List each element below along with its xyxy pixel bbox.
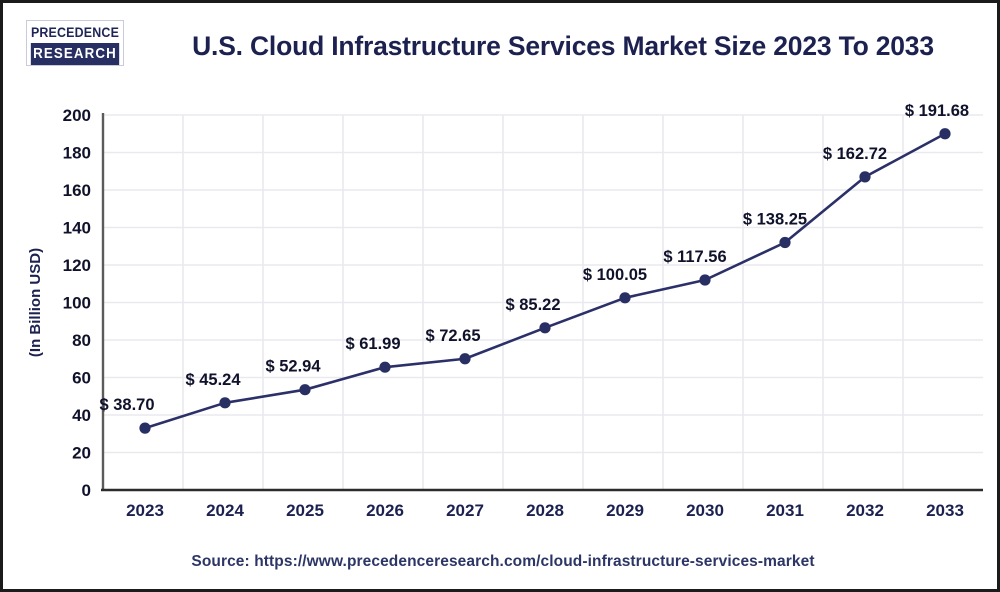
y-tick-label: 120 (63, 256, 91, 275)
data-point-label: $ 117.56 (663, 248, 726, 266)
data-point-label: $ 72.65 (425, 327, 480, 345)
y-axis-tick-labels: 020406080100120140160180200 (63, 106, 91, 500)
data-point-marker (699, 274, 710, 285)
x-tick-label: 2032 (846, 501, 884, 520)
data-point-label: $ 100.05 (583, 266, 647, 284)
data-point-marker (379, 362, 390, 373)
plot-area: 020406080100120140160180200 202320242025… (3, 3, 1000, 592)
series-path (145, 134, 945, 428)
y-tick-label: 20 (72, 444, 91, 463)
data-point-label: $ 162.72 (823, 145, 887, 163)
chart-frame: PRECEDENCE RESEARCH U.S. Cloud Infrastru… (0, 0, 1000, 592)
data-point-label: $ 191.68 (905, 102, 969, 120)
x-tick-label: 2023 (126, 501, 164, 520)
data-point-marker (139, 423, 150, 434)
data-point-label: $ 61.99 (345, 335, 400, 353)
data-series-points (139, 128, 950, 434)
x-tick-label: 2030 (686, 501, 724, 520)
data-point-labels: $ 38.70$ 45.24$ 52.94$ 61.99$ 72.65$ 85.… (99, 102, 969, 414)
data-point-label: $ 52.94 (265, 358, 321, 376)
x-tick-label: 2026 (366, 501, 404, 520)
y-tick-label: 180 (63, 144, 91, 163)
y-tick-label: 40 (72, 406, 91, 425)
data-point-marker (939, 128, 950, 139)
x-axis-tick-labels: 2023202420252026202720282029203020312032… (126, 501, 964, 520)
y-axis-title: (In Billion USD) (27, 248, 44, 357)
data-point-label: $ 45.24 (185, 371, 241, 389)
y-axis-title-text: (In Billion USD) (27, 248, 44, 357)
data-point-marker (299, 384, 310, 395)
data-point-label: $ 85.22 (505, 296, 560, 314)
y-tick-label: 60 (72, 369, 91, 388)
data-point-marker (619, 292, 630, 303)
x-tick-label: 2033 (926, 501, 964, 520)
data-point-label: $ 138.25 (743, 211, 807, 229)
data-series-line (145, 134, 945, 428)
data-point-marker (779, 237, 790, 248)
source-note: Source: https://www.precedenceresearch.c… (3, 553, 1000, 571)
y-tick-label: 160 (63, 181, 91, 200)
y-tick-label: 200 (63, 106, 91, 125)
x-tick-label: 2031 (766, 501, 804, 520)
x-tick-label: 2028 (526, 501, 564, 520)
y-tick-label: 100 (63, 294, 91, 313)
data-point-marker (219, 397, 230, 408)
x-tick-label: 2029 (606, 501, 644, 520)
data-point-marker (539, 322, 550, 333)
x-tick-label: 2027 (446, 501, 484, 520)
x-tick-label: 2024 (206, 501, 244, 520)
line-chart-svg: 020406080100120140160180200 202320242025… (3, 3, 1000, 592)
data-point-marker (459, 353, 470, 364)
y-tick-label: 140 (63, 219, 91, 238)
x-tick-label: 2025 (286, 501, 324, 520)
data-point-marker (859, 171, 870, 182)
y-tick-label: 0 (82, 481, 91, 500)
y-tick-label: 80 (72, 331, 91, 350)
data-point-label: $ 38.70 (99, 396, 154, 414)
